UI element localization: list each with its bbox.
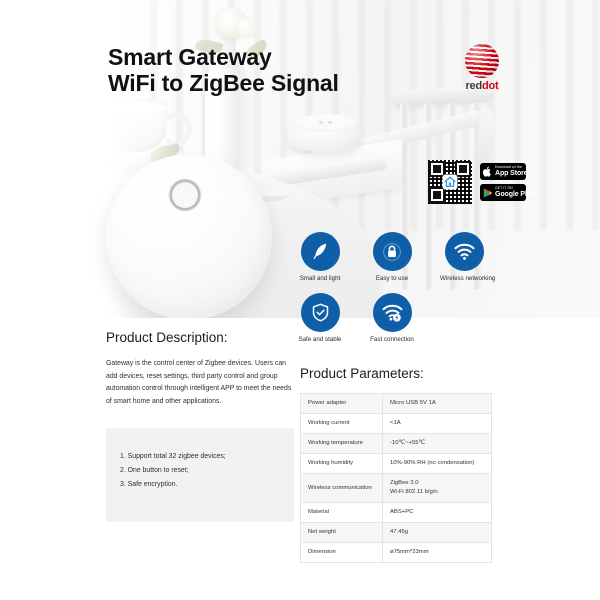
table-cell-key: Working temperature: [301, 434, 383, 454]
table-row: Dimension ø75mm*23mm: [301, 543, 492, 563]
gateway-device-small-top: [295, 114, 355, 132]
product-page: Smart Gateway WiFi to ZigBee Signal redd…: [0, 0, 600, 600]
reddot-label-red: red: [465, 80, 482, 92]
list-item: 2. One button to reset;: [120, 464, 294, 478]
rose-bud-decoration: [236, 18, 258, 38]
app-store-big-text: App Store: [495, 170, 528, 177]
product-highlights-box: 1. Support total 32 zigbee devices; 2. O…: [106, 428, 294, 522]
table-row: Working current <1A: [301, 414, 492, 434]
reddot-award-label: reddot: [454, 80, 510, 92]
feature-label: Safe and stable: [296, 336, 344, 344]
smart-home-house-icon: [443, 175, 458, 190]
list-item: 1. Support total 32 zigbee devices;: [120, 450, 294, 464]
google-play-badge-text: GET IT ON Google Play: [495, 187, 534, 197]
list-item: 3. Safe encryption.: [120, 478, 294, 492]
table-cell-value: Micro USB 5V 1A: [383, 394, 492, 414]
table-row: Wireless communication ZigBee 3.0 Wi-Fi …: [301, 474, 492, 503]
feature-highlights: Small and light Easy to use: [296, 232, 526, 354]
table-cell-value: ZigBee 3.0 Wi-Fi 802.11 b/g/n: [383, 474, 492, 503]
product-parameters-section: Product Parameters: Power adapter Micro …: [300, 366, 492, 563]
feature-row-2: Safe and stable Fast connection: [296, 293, 526, 344]
table-cell-value: 47.45g: [383, 523, 492, 543]
table-cell-value: <1A: [383, 414, 492, 434]
app-store-badge-text: Download on the App Store: [495, 166, 528, 176]
table-row: Power adapter Micro USB 5V 1A: [301, 394, 492, 414]
qr-eye-top-right: [455, 161, 471, 177]
table-row: Material ABS+PC: [301, 503, 492, 523]
feature-easy-to-use: Easy to use: [368, 232, 416, 283]
table-cell-key: Dimension: [301, 543, 383, 563]
shield-check-icon: [301, 293, 340, 332]
reddot-sphere-icon: [465, 44, 499, 78]
parameters-table: Power adapter Micro USB 5V 1A Working cu…: [300, 393, 492, 563]
table-cell-key: Material: [301, 503, 383, 523]
table-cell-value-line1: ZigBee 3.0: [390, 479, 491, 488]
table-cell-value: -10℃~+55℃: [383, 434, 492, 454]
wifi-bolt-icon: [373, 293, 412, 332]
feature-fast-connection: Fast connection: [368, 293, 416, 344]
feature-small-and-light: Small and light: [296, 232, 344, 283]
table-row: Working humidity 10%-90% RH (no condensa…: [301, 454, 492, 474]
product-parameters-heading: Product Parameters:: [300, 366, 492, 381]
google-play-icon: [483, 188, 492, 198]
feature-label: Fast connection: [368, 336, 416, 344]
reddot-label-dot: dot: [482, 80, 499, 92]
table-cell-key: Working humidity: [301, 454, 383, 474]
google-play-big-text: Google Play: [495, 191, 534, 198]
apple-logo-icon: [483, 166, 492, 177]
feather-icon: [301, 232, 340, 271]
app-store-badge[interactable]: Download on the App Store: [480, 163, 526, 180]
table-cell-value: ø75mm*23mm: [383, 543, 492, 563]
feature-wireless-networking: Wireless networking: [440, 232, 488, 283]
reddot-award-logo: reddot: [454, 44, 510, 92]
lock-icon: [373, 232, 412, 271]
product-description-body: Gateway is the control center of Zigbee …: [106, 358, 294, 408]
page-title: Smart Gateway WiFi to ZigBee Signal: [108, 44, 339, 96]
feature-label: Small and light: [296, 275, 344, 283]
table-cell-value: ABS+PC: [383, 503, 492, 523]
product-description-heading: Product Description:: [106, 330, 294, 345]
table-cell-value: 10%-90% RH (no condensation): [383, 454, 492, 474]
table-cell-key: Net weight: [301, 523, 383, 543]
feature-safe-and-stable: Safe and stable: [296, 293, 344, 344]
feature-label: Wireless networking: [440, 275, 488, 283]
wifi-icon: [445, 232, 484, 271]
table-cell-key: Wireless communication: [301, 474, 383, 503]
gateway-reset-button-icon: [172, 182, 198, 208]
product-description-section: Product Description: Gateway is the cont…: [106, 330, 294, 522]
app-download-block: Download on the App Store GE: [428, 160, 526, 204]
table-cell-key: Power adapter: [301, 394, 383, 414]
store-badges: Download on the App Store GE: [480, 163, 526, 201]
table-cell-key: Working current: [301, 414, 383, 434]
feature-row-1: Small and light Easy to use: [296, 232, 526, 283]
gateway-device-icon: [106, 154, 272, 318]
qr-code-icon[interactable]: [428, 160, 472, 204]
google-play-badge[interactable]: GET IT ON Google Play: [480, 184, 526, 201]
table-cell-value-line2: Wi-Fi 802.11 b/g/n: [390, 488, 491, 497]
table-row: Working temperature -10℃~+55℃: [301, 434, 492, 454]
qr-eye-bottom-left: [429, 187, 445, 203]
feature-label: Easy to use: [368, 275, 416, 283]
table-row: Net weight 47.45g: [301, 523, 492, 543]
